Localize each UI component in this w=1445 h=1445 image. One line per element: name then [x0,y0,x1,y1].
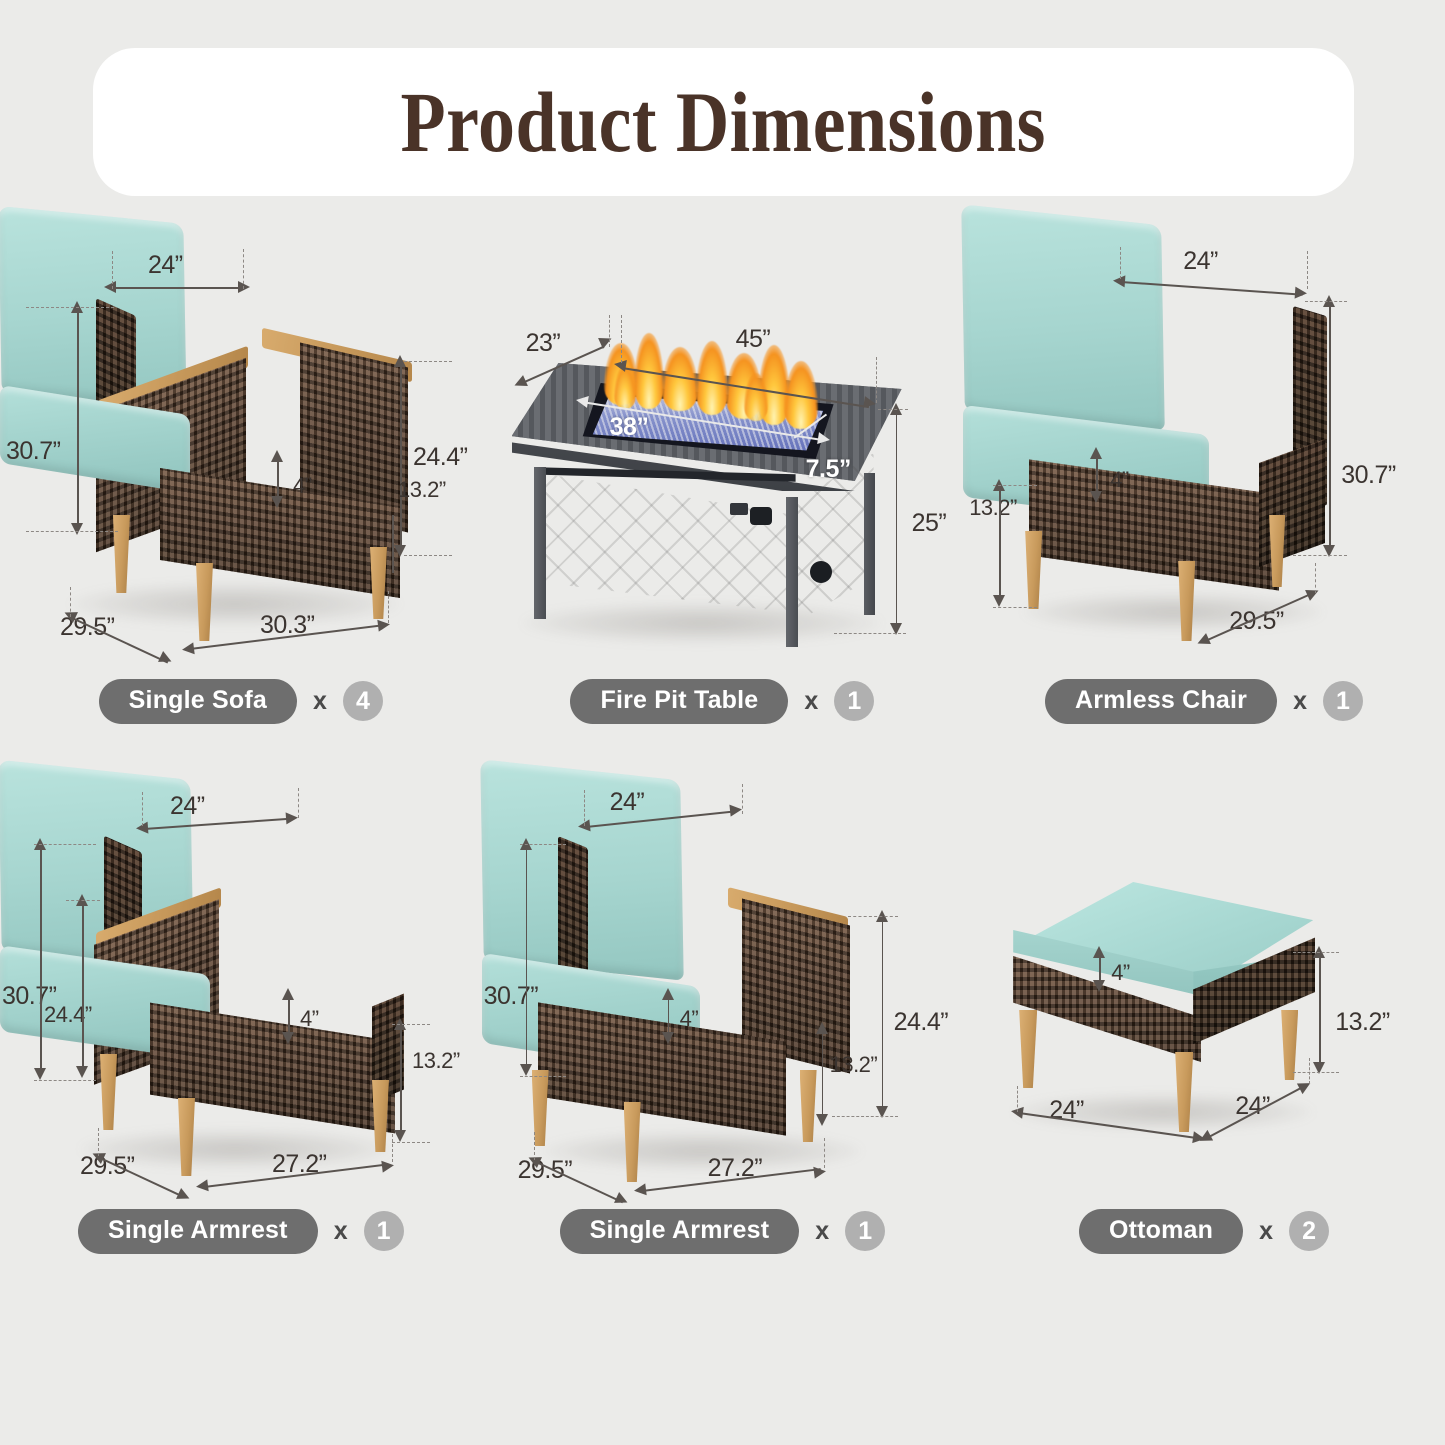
armless-back-cushion [961,204,1165,430]
arrow-left [512,375,528,391]
arrow-down [34,1068,46,1080]
multiplier-symbol: x [334,1217,348,1246]
product-count-single-armrest-right: 1 [845,1211,885,1251]
ext-line [142,792,143,826]
ext-line [298,788,299,818]
multiplier-symbol: x [313,687,327,716]
arrow-down [394,1130,406,1142]
ottoman-leg-back-right [1281,1010,1298,1080]
ext-line [34,844,96,845]
ext-line [848,916,898,917]
dim-armrest-l-width-top: 24” [170,792,205,821]
product-cell-fire-pit-table: 23” 45” 38” 7.5” [482,215,964,732]
ext-line [1315,563,1316,593]
label-row-single-armrest-left: Single Armrest x 1 [0,1200,482,1262]
ext-line [993,607,1037,608]
ext-line [520,844,566,845]
single-armrest-left-illustration: 24” 30.7” 24.4” 4” [0,770,482,1200]
product-grid: 24” 30.7” 4” 24.4” [0,215,1445,1262]
dim-sofa-height-total: 30.7” [6,437,60,466]
arrow-right [158,651,174,667]
floor-shadow [522,603,882,643]
firepit-control-knob-side [810,561,832,583]
label-row-armless-chair: Armless Chair x 1 [963,670,1445,732]
dim-armrest-l-cushion: 4” [300,1006,319,1032]
dim-firepit-depth: 23” [526,329,561,358]
dim-sofa-cushion: 4” [293,473,312,499]
ext-line [112,251,113,289]
dim-armrest-r-height-total: 30.7” [484,982,538,1011]
arrow-up [282,988,294,1000]
ext-line [404,555,452,556]
arrow-down [1090,491,1102,503]
ext-line [993,485,1037,486]
firepit-leg-front-right [786,497,798,647]
ext-line [876,357,877,403]
product-cell-single-armrest-right: 24” 30.7” 4” 24.4” [482,770,964,1262]
arrow-down [76,1066,88,1078]
armrest-l-leg-front-left [100,1054,117,1130]
armless-side-base [1259,439,1325,567]
ext-line [34,1080,96,1081]
dim-firepit-burner-width: 7.5” [806,455,851,484]
ext-line [1293,952,1339,953]
ext-line [404,361,452,362]
ext-line [742,784,743,814]
dim-sofa-seat-back-height: 24.4” [413,443,467,472]
dim-ottoman-height: 13.2” [1335,1008,1389,1037]
dimline-armless-seat-height [999,487,1001,603]
ext-line [621,315,622,363]
dim-firepit-burner-length: 38” [610,413,649,442]
ext-line [1017,1086,1018,1112]
label-row-ottoman: Ottoman x 2 [963,1200,1445,1262]
arrow-left [1195,633,1211,649]
arrow-down [71,523,83,535]
product-row-1: 24” 30.7” 4” 24.4” [0,215,1445,732]
ext-line [1120,247,1121,279]
flame [696,341,728,415]
multiplier-symbol: x [1293,687,1307,716]
multiplier-symbol: x [804,687,818,716]
arrow-right [729,803,742,816]
ext-line [878,409,908,410]
dimline-armrest-r-24-4 [882,918,884,1114]
dimline-ottoman-height [1319,954,1321,1070]
ottoman-leg-front-left [1019,1010,1037,1088]
dim-sofa-width-top: 24” [148,251,183,280]
firepit-front-panel [540,473,794,613]
dim-armrest-l-depth: 29.5” [80,1152,134,1181]
ext-line [26,307,114,308]
label-row-fire-pit-table: Fire Pit Table x 1 [482,670,964,732]
ext-line [1293,1072,1339,1073]
dimline-sofa-24-4 [400,363,402,553]
product-cell-armless-chair: 24” 30.7” 4” 13.2” [963,215,1445,732]
product-label-single-armrest-right: Single Armrest [560,1209,800,1254]
dimline-armrest-r-height [526,846,528,1072]
single-sofa-illustration: 24” 30.7” 4” 24.4” [0,215,482,670]
ext-line [584,790,585,826]
arrow-up [662,988,674,1000]
dim-armless-width-top: 24” [1183,247,1218,276]
firepit-control-knob-front [750,507,772,525]
armless-front-base [1029,459,1279,590]
page-title: Product Dimensions [401,72,1046,172]
product-cell-single-sofa: 24” 30.7” 4” 24.4” [0,215,482,732]
multiplier-symbol: x [1259,1217,1273,1246]
ext-line [1309,1058,1310,1084]
arrow-right [817,432,831,446]
sofa-leg-front-center [196,563,213,641]
dim-firepit-width: 45” [736,325,771,354]
ext-line [834,633,906,634]
arrow-left [575,394,589,408]
fire-pit-table-illustration: 23” 45” 38” 7.5” [482,215,964,670]
label-row-single-sofa: Single Sofa x 4 [0,670,482,732]
label-row-single-armrest-right: Single Armrest x 1 [482,1200,964,1262]
arrow-down [816,1114,828,1126]
arrow-down [1093,980,1105,992]
dimline-sofa-13-2 [392,515,394,573]
ext-line [1307,251,1308,289]
dim-armrest-r-cushion: 4” [680,1006,699,1032]
product-label-single-sofa: Single Sofa [99,679,297,724]
arrow-up [816,1022,828,1034]
arrow-right [1297,1078,1313,1094]
dim-sofa-seat-height: 13.2” [398,477,446,503]
ext-line [1293,555,1347,556]
ext-line [392,1134,393,1162]
dim-armless-height-total: 30.7” [1341,461,1395,490]
arrow-down [271,496,283,508]
arrow-right [863,396,877,410]
armrest-r-leg-front-right [800,1070,817,1142]
dimline-armless-height [1329,303,1331,553]
single-armrest-right-illustration: 24” 30.7” 4” 24.4” [482,770,964,1200]
dim-armless-depth: 29.5” [1229,607,1283,636]
product-label-single-armrest-left: Single Armrest [78,1209,318,1254]
arrow-up [271,450,283,462]
dim-armrest-l-seat-height: 13.2” [412,1048,460,1074]
ext-line [392,1024,430,1025]
arrow-down [662,1032,674,1044]
armless-leg-front-left [1025,531,1042,609]
firepit-leg-back-right [864,473,875,615]
arrow-left [181,642,194,655]
arrow-right [238,281,250,293]
arrow-left [633,1183,646,1196]
arrow-up [1093,946,1105,958]
arrow-right [286,812,299,825]
header-card: Product Dimensions [93,48,1354,196]
dimline-sofa-height [77,310,79,530]
ext-line [534,1132,535,1160]
ext-line [609,315,610,347]
arrow-down [282,1032,294,1044]
ext-line [243,249,244,289]
ext-line [98,1128,99,1156]
product-count-ottoman: 2 [1289,1211,1329,1251]
dim-armrest-r-seat-height: 13.2” [830,1052,878,1078]
product-count-single-armrest-left: 1 [364,1211,404,1251]
dim-armrest-r-seat-back-height: 24.4” [894,1008,948,1037]
product-row-2: 24” 30.7” 24.4” 4” [0,770,1445,1262]
arrow-left [1113,275,1126,288]
dim-armless-seat-height: 13.2” [969,495,1017,521]
dimline-armrest-l-24-4 [82,902,84,1074]
firepit-ignition-plate [730,503,748,515]
ext-line [70,587,71,617]
ext-line [824,1138,825,1168]
dim-firepit-height: 25” [912,509,947,538]
dimline-armrest-r-13-2 [822,1030,824,1122]
armless-chair-illustration: 24” 30.7” 4” 13.2” [963,215,1445,670]
dim-ottoman-cushion: 4” [1111,960,1130,986]
multiplier-symbol: x [815,1217,829,1246]
ext-line [520,1076,566,1077]
dim-armless-cushion: 4” [1110,467,1129,493]
dimline-firepit-height [896,411,898,631]
product-label-fire-pit-table: Fire Pit Table [570,679,788,724]
product-cell-ottoman: 4” 13.2” 24” 24” [963,770,1445,1262]
product-label-ottoman: Ottoman [1079,1209,1243,1254]
arrow-right [1295,287,1308,300]
dimline-armrest-l-13-2 [400,1026,402,1138]
dim-armrest-l-seat-back-height: 24.4” [44,1002,92,1028]
arrow-right [1305,585,1321,601]
ext-line [26,531,118,532]
dimline-sofa-width-top [112,287,244,289]
dimline-armrest-l-height [40,846,42,1076]
armrest-r-leg-front-center [624,1102,641,1182]
arrow-down [993,595,1005,607]
product-label-armless-chair: Armless Chair [1045,679,1277,724]
arrow-left [104,281,116,293]
dim-armrest-r-width-top: 24” [610,788,645,817]
floor-shadow [542,1132,862,1170]
ext-line [66,900,100,901]
ottoman-illustration: 4” 13.2” 24” 24” [963,770,1445,1200]
arrow-left [613,358,627,372]
ext-line [392,1142,430,1143]
firepit-leg-front-left [534,467,546,619]
ext-line [832,1116,898,1117]
product-count-armless-chair: 1 [1323,681,1363,721]
product-count-fire-pit-table: 1 [834,681,874,721]
arrow-down [520,1064,532,1076]
arrow-left [195,1179,208,1192]
arrow-up [1090,447,1102,459]
product-count-single-sofa: 4 [343,681,383,721]
sofa-leg-front-left [113,515,130,593]
ext-line [388,591,389,623]
ext-line [1305,301,1347,302]
product-cell-single-armrest-left: 24” 30.7” 24.4” 4” [0,770,482,1262]
